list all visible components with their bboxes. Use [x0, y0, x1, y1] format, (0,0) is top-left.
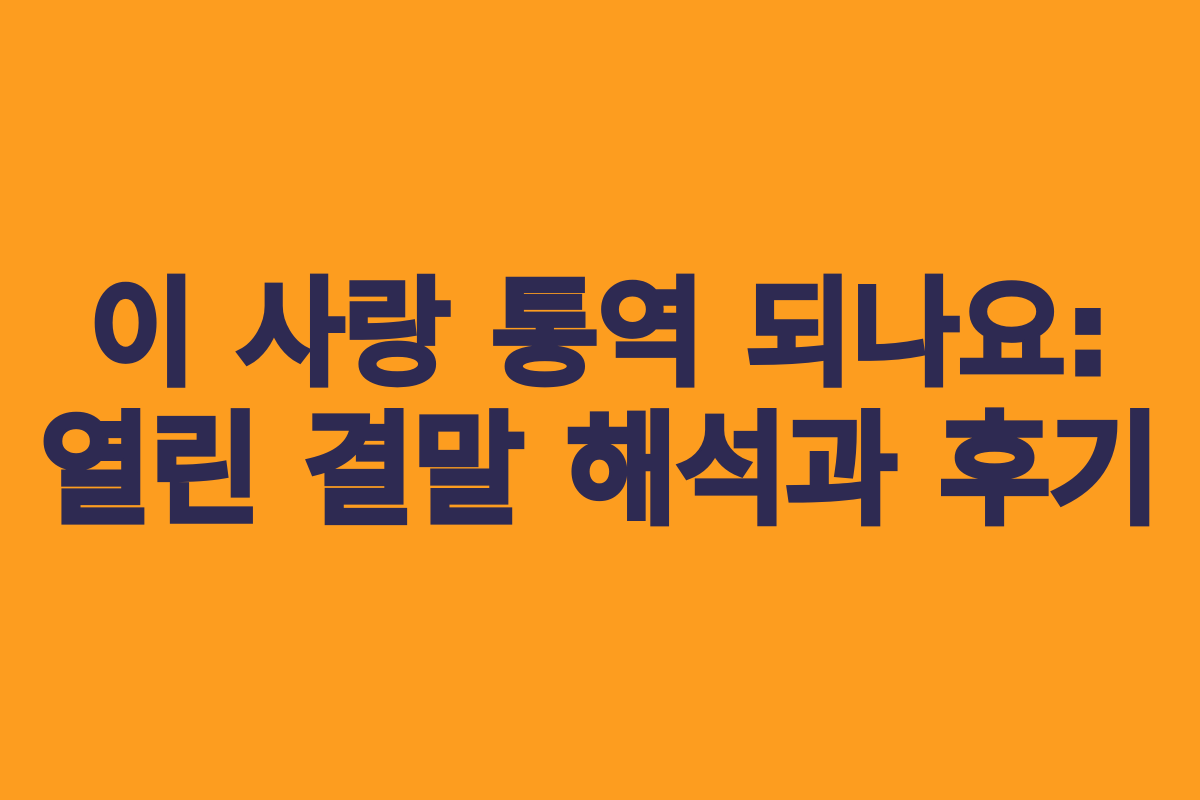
headline-line-2: 열린 결말 해석과 후기 [0, 403, 1200, 540]
headline-line-1: 이 사랑 통역 되나요: [0, 266, 1200, 403]
headline-block: 이 사랑 통역 되나요: 열린 결말 해석과 후기 [0, 266, 1200, 540]
title-card: 이 사랑 통역 되나요: 열린 결말 해석과 후기 [0, 0, 1200, 800]
